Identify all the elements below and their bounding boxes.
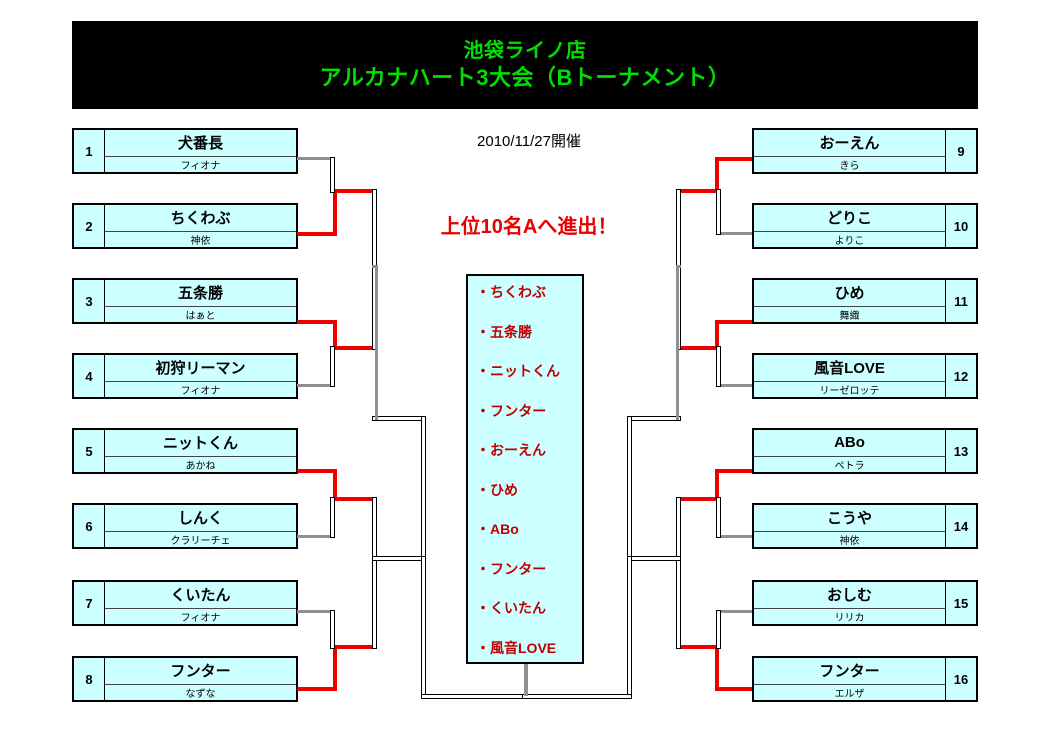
player-info: ABo ペトラ — [754, 430, 945, 472]
line-match8-riser — [715, 645, 719, 691]
list-item: ・ニットくん — [476, 363, 582, 379]
line-match7-out — [676, 497, 719, 501]
player-info: おしむ リリカ — [754, 582, 945, 624]
player-info: どりこ よりこ — [754, 205, 945, 247]
player-character: エルザ — [754, 684, 945, 700]
line-match6-loser-drop — [716, 346, 721, 387]
player-box-seed-15[interactable]: おしむ リリカ 15 — [752, 580, 978, 626]
line-seed13-winner — [715, 469, 752, 473]
line-match2-loser-drop — [330, 346, 335, 387]
line-right-final-vert — [627, 556, 632, 699]
line-match8-out — [676, 645, 719, 649]
player-name: フンター — [105, 658, 296, 684]
line-right-gray-foot — [676, 416, 679, 420]
line-left-final-vert — [421, 556, 426, 699]
player-info: ひめ 舞織 — [754, 280, 945, 322]
player-name: ニットくん — [105, 430, 296, 456]
list-item: ・ABo — [476, 521, 582, 537]
player-name: ちくわぶ — [105, 205, 296, 231]
event-date-note: 2010/11/27開催 — [404, 130, 654, 151]
player-box-seed-14[interactable]: こうや 神依 14 — [752, 503, 978, 549]
list-item: ・風音LOVE — [476, 640, 582, 656]
seed-number: 14 — [945, 505, 976, 547]
player-name: しんく — [105, 505, 296, 531]
line-match4-loser-drop — [330, 610, 335, 649]
player-name: 五条勝 — [105, 280, 296, 306]
line-match1-out — [333, 189, 376, 193]
line-seed8-winner — [297, 687, 337, 691]
list-item: ・おーえん — [476, 442, 582, 458]
line-match4-out — [333, 645, 376, 649]
list-item: ・フンター — [476, 561, 582, 577]
player-info: ニットくん あかね — [105, 430, 296, 472]
seed-number: 4 — [74, 355, 105, 397]
seed-number: 16 — [945, 658, 976, 700]
line-match5-riser — [715, 157, 719, 193]
seed-number: 9 — [945, 130, 976, 172]
tournament-bracket-page: 池袋ライノ店 アルカナハート3大会（Bトーナメント） 2010/11/27開催 … — [0, 0, 1053, 744]
line-seed6-loser — [297, 535, 334, 538]
line-right-final-join-lower — [627, 556, 681, 561]
player-character: ペトラ — [754, 456, 945, 472]
player-name: 犬番長 — [105, 130, 296, 156]
player-name: 風音LOVE — [754, 355, 945, 381]
advance-note: 上位10名Aへ進出！ — [404, 210, 654, 239]
player-info: しんく クラリーチェ — [105, 505, 296, 547]
seed-number: 7 — [74, 582, 105, 624]
player-character: 舞織 — [754, 306, 945, 322]
player-name: こうや — [754, 505, 945, 531]
player-box-seed-10[interactable]: どりこ よりこ 10 — [752, 203, 978, 249]
line-right-semi-upper-gray-drop — [676, 265, 679, 420]
line-seed10-loser — [718, 232, 752, 235]
advancing-players-list: ・ちくわぶ ・五条勝 ・ニットくん ・フンター ・おーえん ・ひめ ・ABo ・… — [466, 274, 584, 664]
line-match1-riser — [333, 189, 337, 236]
seed-number: 15 — [945, 582, 976, 624]
line-right-final-join-upper — [627, 416, 681, 421]
player-info: こうや 神依 — [754, 505, 945, 547]
line-right-to-final — [522, 694, 632, 699]
tournament-header-banner: 池袋ライノ店 アルカナハート3大会（Bトーナメント） — [72, 21, 978, 109]
line-seed15-loser — [718, 610, 752, 613]
player-name: ひめ — [754, 280, 945, 306]
player-box-seed-4[interactable]: 4 初狩リーマン フィオナ — [72, 353, 298, 399]
player-box-seed-8[interactable]: 8 フンター なずな — [72, 656, 298, 702]
player-character: フィオナ — [105, 381, 296, 397]
seed-number: 6 — [74, 505, 105, 547]
line-match3-loser-drop — [330, 497, 335, 538]
line-seed16-winner — [715, 687, 752, 691]
player-name: フンター — [754, 658, 945, 684]
line-seed2-winner — [297, 232, 337, 236]
player-character: はぁと — [105, 306, 296, 322]
player-character: よりこ — [754, 231, 945, 247]
seed-number: 13 — [945, 430, 976, 472]
line-seed11-winner — [715, 320, 752, 324]
line-match7-loser-drop — [716, 497, 721, 538]
player-box-seed-9[interactable]: おーえん きら 9 — [752, 128, 978, 174]
player-box-seed-13[interactable]: ABo ペトラ 13 — [752, 428, 978, 474]
player-name: どりこ — [754, 205, 945, 231]
player-info: 風音LOVE リーゼロッテ — [754, 355, 945, 397]
player-name: 初狩リーマン — [105, 355, 296, 381]
player-name: おーえん — [754, 130, 945, 156]
line-seed1-loser — [297, 157, 334, 160]
player-character: リリカ — [754, 608, 945, 624]
player-character: クラリーチェ — [105, 531, 296, 547]
line-seed3-winner — [297, 320, 337, 324]
line-match3-out — [333, 497, 376, 501]
player-info: フンター なずな — [105, 658, 296, 700]
player-name: ABo — [754, 430, 945, 456]
player-name: おしむ — [754, 582, 945, 608]
player-box-seed-11[interactable]: ひめ 舞織 11 — [752, 278, 978, 324]
player-character: フィオナ — [105, 608, 296, 624]
player-box-seed-1[interactable]: 1 犬番長 フィオナ — [72, 128, 298, 174]
seed-number: 11 — [945, 280, 976, 322]
player-box-seed-5[interactable]: 5 ニットくん あかね — [72, 428, 298, 474]
seed-number: 2 — [74, 205, 105, 247]
line-match2-out — [333, 346, 376, 350]
player-info: ちくわぶ 神依 — [105, 205, 296, 247]
player-box-seed-7[interactable]: 7 くいたん フィオナ — [72, 580, 298, 626]
player-box-seed-6[interactable]: 6 しんく クラリーチェ — [72, 503, 298, 549]
player-character: フィオナ — [105, 156, 296, 172]
player-info: 初狩リーマン フィオナ — [105, 355, 296, 397]
player-box-seed-12[interactable]: 風音LOVE リーゼロッテ 12 — [752, 353, 978, 399]
player-info: フンター エルザ — [754, 658, 945, 700]
list-item: ・五条勝 — [476, 324, 582, 340]
player-character: 神依 — [754, 531, 945, 547]
player-box-seed-3[interactable]: 3 五条勝 はぁと — [72, 278, 298, 324]
list-item: ・ちくわぶ — [476, 284, 582, 300]
player-character: 神依 — [105, 231, 296, 247]
line-match5-loser-drop — [716, 189, 721, 235]
list-item: ・くいたん — [476, 600, 582, 616]
player-character: なずな — [105, 684, 296, 700]
seed-number: 3 — [74, 280, 105, 322]
line-left-to-final — [421, 694, 531, 699]
line-seed9-winner — [715, 157, 752, 161]
player-name: くいたん — [105, 582, 296, 608]
line-right-final-vert-upper — [627, 416, 632, 560]
seed-number: 12 — [945, 355, 976, 397]
seed-number: 8 — [74, 658, 105, 700]
line-match8-loser-drop — [716, 610, 721, 649]
line-left-gray-foot — [375, 416, 378, 420]
seed-number: 1 — [74, 130, 105, 172]
seed-number: 10 — [945, 205, 976, 247]
player-info: 五条勝 はぁと — [105, 280, 296, 322]
line-seed14-loser — [718, 535, 752, 538]
seed-number: 5 — [74, 430, 105, 472]
list-item: ・フンター — [476, 403, 582, 419]
player-character: きら — [754, 156, 945, 172]
player-character: リーゼロッテ — [754, 381, 945, 397]
line-left-semi-lower-vert — [372, 497, 377, 649]
player-info: 犬番長 フィオナ — [105, 130, 296, 172]
line-left-final-join-lower — [372, 556, 426, 561]
line-seed7-loser — [297, 610, 334, 613]
player-character: あかね — [105, 456, 296, 472]
line-seed5-winner — [297, 469, 337, 473]
player-info: くいたん フィオナ — [105, 582, 296, 624]
player-box-seed-16[interactable]: フンター エルザ 16 — [752, 656, 978, 702]
player-box-seed-2[interactable]: 2 ちくわぶ 神依 — [72, 203, 298, 249]
line-seed12-loser — [718, 384, 752, 387]
list-item: ・ひめ — [476, 482, 582, 498]
line-left-semi-upper-gray-drop — [375, 265, 378, 420]
line-right-semi-lower-vert — [676, 497, 681, 649]
player-info: おーえん きら — [754, 130, 945, 172]
line-match4-riser — [333, 645, 337, 691]
venue-title: 池袋ライノ店 — [464, 38, 587, 64]
line-match1-loser-drop — [330, 157, 335, 193]
line-left-final-join-upper — [372, 416, 426, 421]
line-final-center-stem — [524, 664, 528, 696]
tournament-title: アルカナハート3大会（Bトーナメント） — [320, 64, 731, 92]
line-match5-out — [676, 189, 719, 193]
line-seed4-loser — [297, 384, 334, 387]
line-left-final-vert-upper — [421, 416, 426, 560]
line-match6-out — [676, 346, 719, 350]
